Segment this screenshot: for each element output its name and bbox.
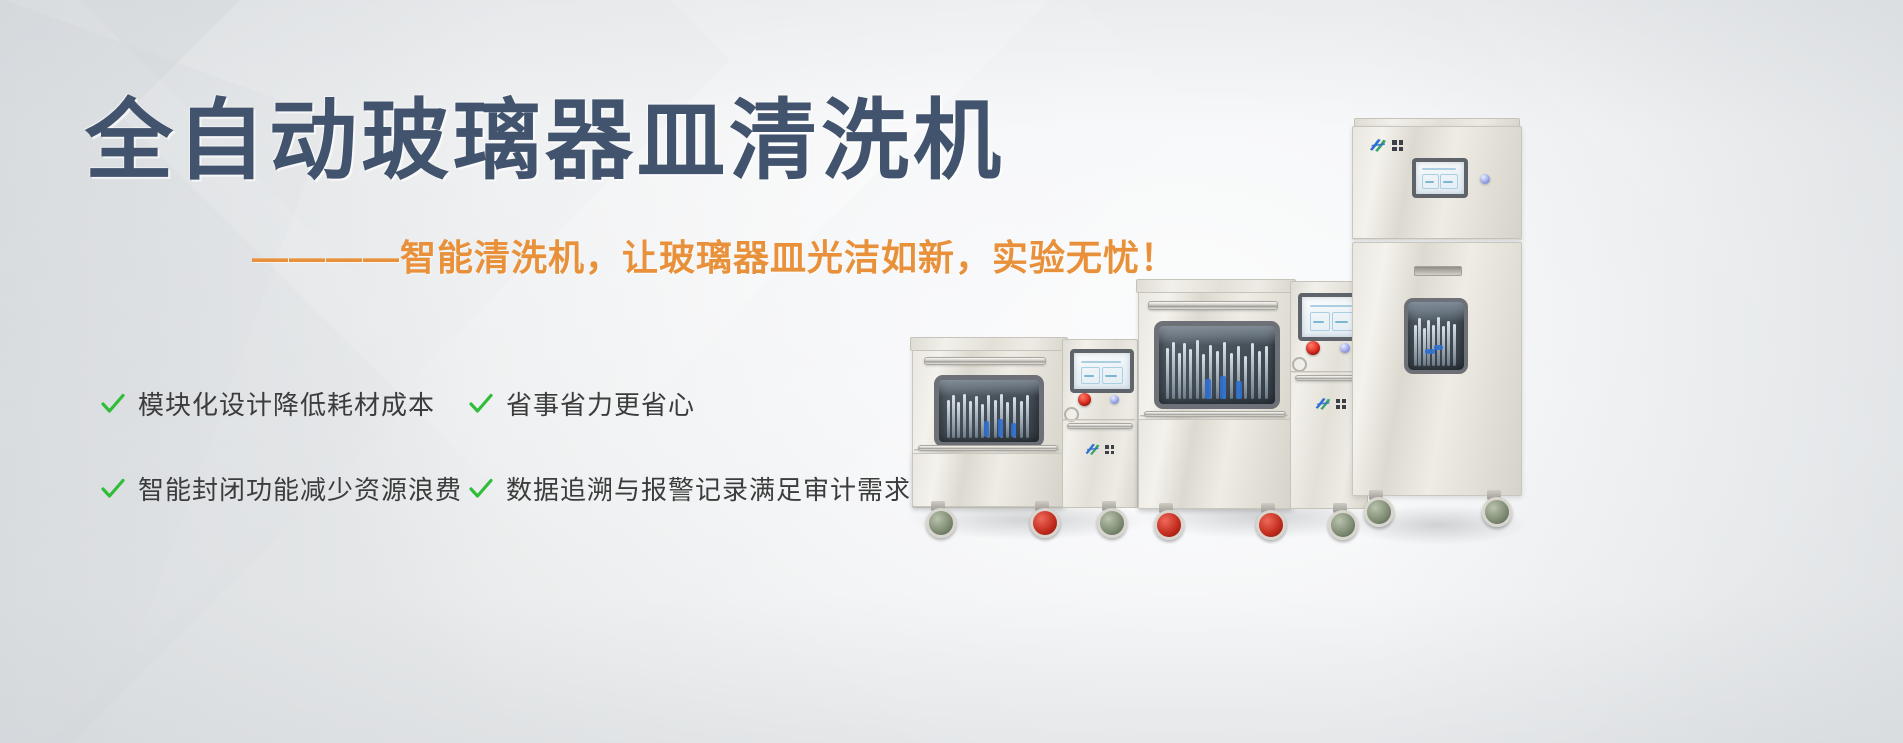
feature-row: 智能封闭功能减少资源浪费 数据追溯与报警记录满足审计需求 — [100, 470, 980, 507]
chamber-window — [1404, 298, 1468, 374]
caster-wheel — [1256, 503, 1280, 534]
banner-subtitle: ————智能清洗机，让玻璃器皿光洁如新，实验无忧！ — [252, 240, 1177, 276]
feature-row: 模块化设计降低耗材成本 省事省力更省心 — [100, 385, 980, 422]
glassware-rack — [1408, 302, 1464, 370]
product-tall-cabinet-washer — [1352, 118, 1524, 518]
check-icon — [100, 476, 126, 502]
check-icon — [468, 391, 494, 417]
feature-label: 模块化设计降低耗材成本 — [138, 385, 435, 422]
power-indicator[interactable] — [1340, 343, 1350, 353]
door-vent-slot — [1414, 266, 1462, 276]
brand-logo — [1368, 138, 1403, 153]
feature-label: 省事省力更省心 — [506, 385, 695, 422]
feature-list: 模块化设计降低耗材成本 省事省力更省心 — [100, 385, 980, 555]
caster-wheel — [1328, 503, 1352, 534]
check-icon — [100, 391, 126, 417]
logo-grid-icon — [1336, 399, 1346, 409]
caster-wheel — [1482, 490, 1506, 521]
feature-label: 智能封闭功能减少资源浪费 — [138, 470, 462, 507]
caster-wheel — [1364, 490, 1388, 521]
logo-grid-icon — [1392, 140, 1403, 151]
feature-label: 数据追溯与报警记录满足审计需求 — [506, 470, 911, 507]
check-icon — [468, 476, 494, 502]
brand-logo — [1314, 397, 1346, 411]
feature-item: 模块化设计降低耗材成本 — [100, 385, 468, 422]
power-indicator[interactable] — [1480, 174, 1490, 184]
touchscreen-display[interactable] — [1412, 158, 1468, 198]
feature-item: 省事省力更省心 — [468, 385, 968, 422]
emergency-stop-button[interactable] — [1306, 341, 1320, 355]
feature-item: 数据追溯与报警记录满足审计需求 — [468, 470, 968, 507]
page-title: 全自动玻璃器皿清洗机 — [85, 97, 1005, 185]
banner-copy: 全自动玻璃器皿清洗机 ————智能清洗机，让玻璃器皿光洁如新，实验无忧！ 模块化… — [0, 0, 1180, 743]
port-ring — [1292, 357, 1307, 372]
product-banner: 全自动玻璃器皿清洗机 ————智能清洗机，让玻璃器皿光洁如新，实验无忧！ 模块化… — [0, 0, 1903, 743]
feature-item: 智能封闭功能减少资源浪费 — [100, 470, 468, 507]
